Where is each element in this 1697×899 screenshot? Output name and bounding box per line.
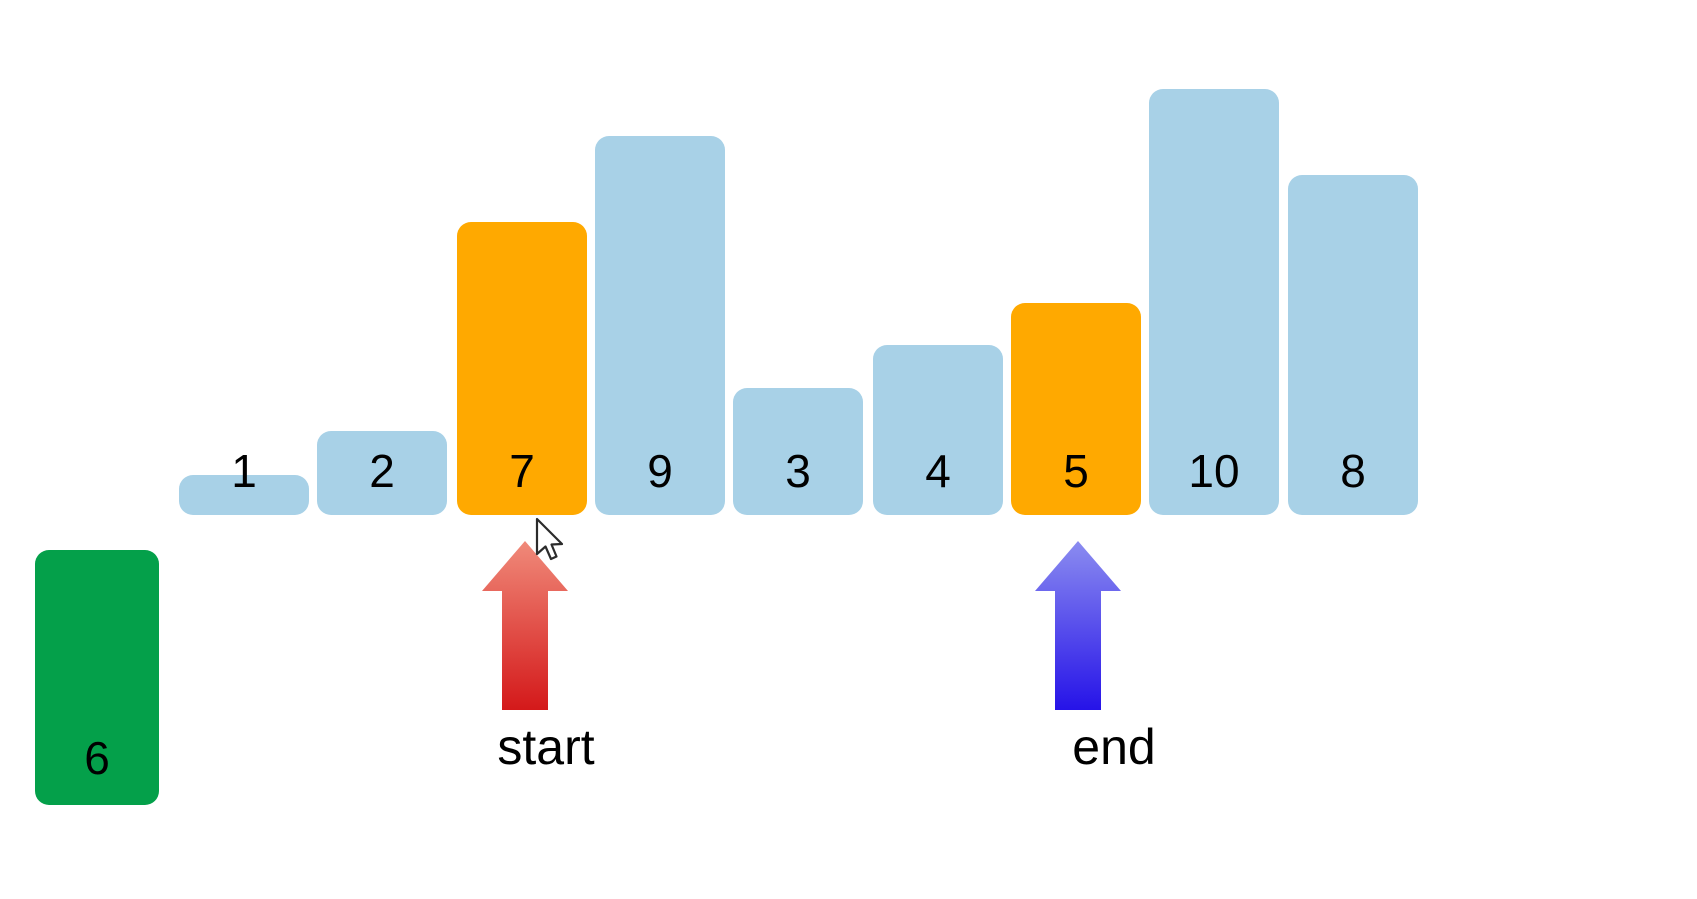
bar-8-value-label: 8 [1288, 448, 1418, 494]
bar-5-value-label: 5 [1011, 448, 1141, 494]
end-arrow-glyph [1033, 538, 1123, 713]
bar-9-value-label: 9 [595, 448, 725, 494]
start-arrow-label: start [466, 722, 626, 772]
bar-8[interactable]: 8 [1288, 175, 1418, 515]
bar-4-value-label: 4 [873, 448, 1003, 494]
bar-10[interactable]: 10 [1149, 89, 1279, 515]
bar-1-value-label: 1 [179, 448, 309, 494]
bar-4[interactable]: 4 [873, 345, 1003, 515]
bar-1[interactable]: 1 [179, 475, 309, 515]
start-arrow: start [480, 538, 570, 713]
diagram-canvas: 6 1279345108 startend [0, 0, 1697, 899]
bar-6-value-label: 6 [35, 735, 159, 781]
bar-2[interactable]: 2 [317, 431, 447, 515]
end-arrow: end [1033, 538, 1123, 713]
bar-9[interactable]: 9 [595, 136, 725, 515]
bar-6-detached[interactable]: 6 [35, 550, 159, 805]
start-arrow-glyph [480, 538, 570, 713]
bar-7[interactable]: 7 [457, 222, 587, 515]
bar-3-value-label: 3 [733, 448, 863, 494]
bar-5[interactable]: 5 [1011, 303, 1141, 515]
bar-3[interactable]: 3 [733, 388, 863, 515]
bar-7-value-label: 7 [457, 448, 587, 494]
bar-2-value-label: 2 [317, 448, 447, 494]
bar-10-value-label: 10 [1149, 448, 1279, 494]
end-arrow-label: end [1034, 722, 1194, 772]
